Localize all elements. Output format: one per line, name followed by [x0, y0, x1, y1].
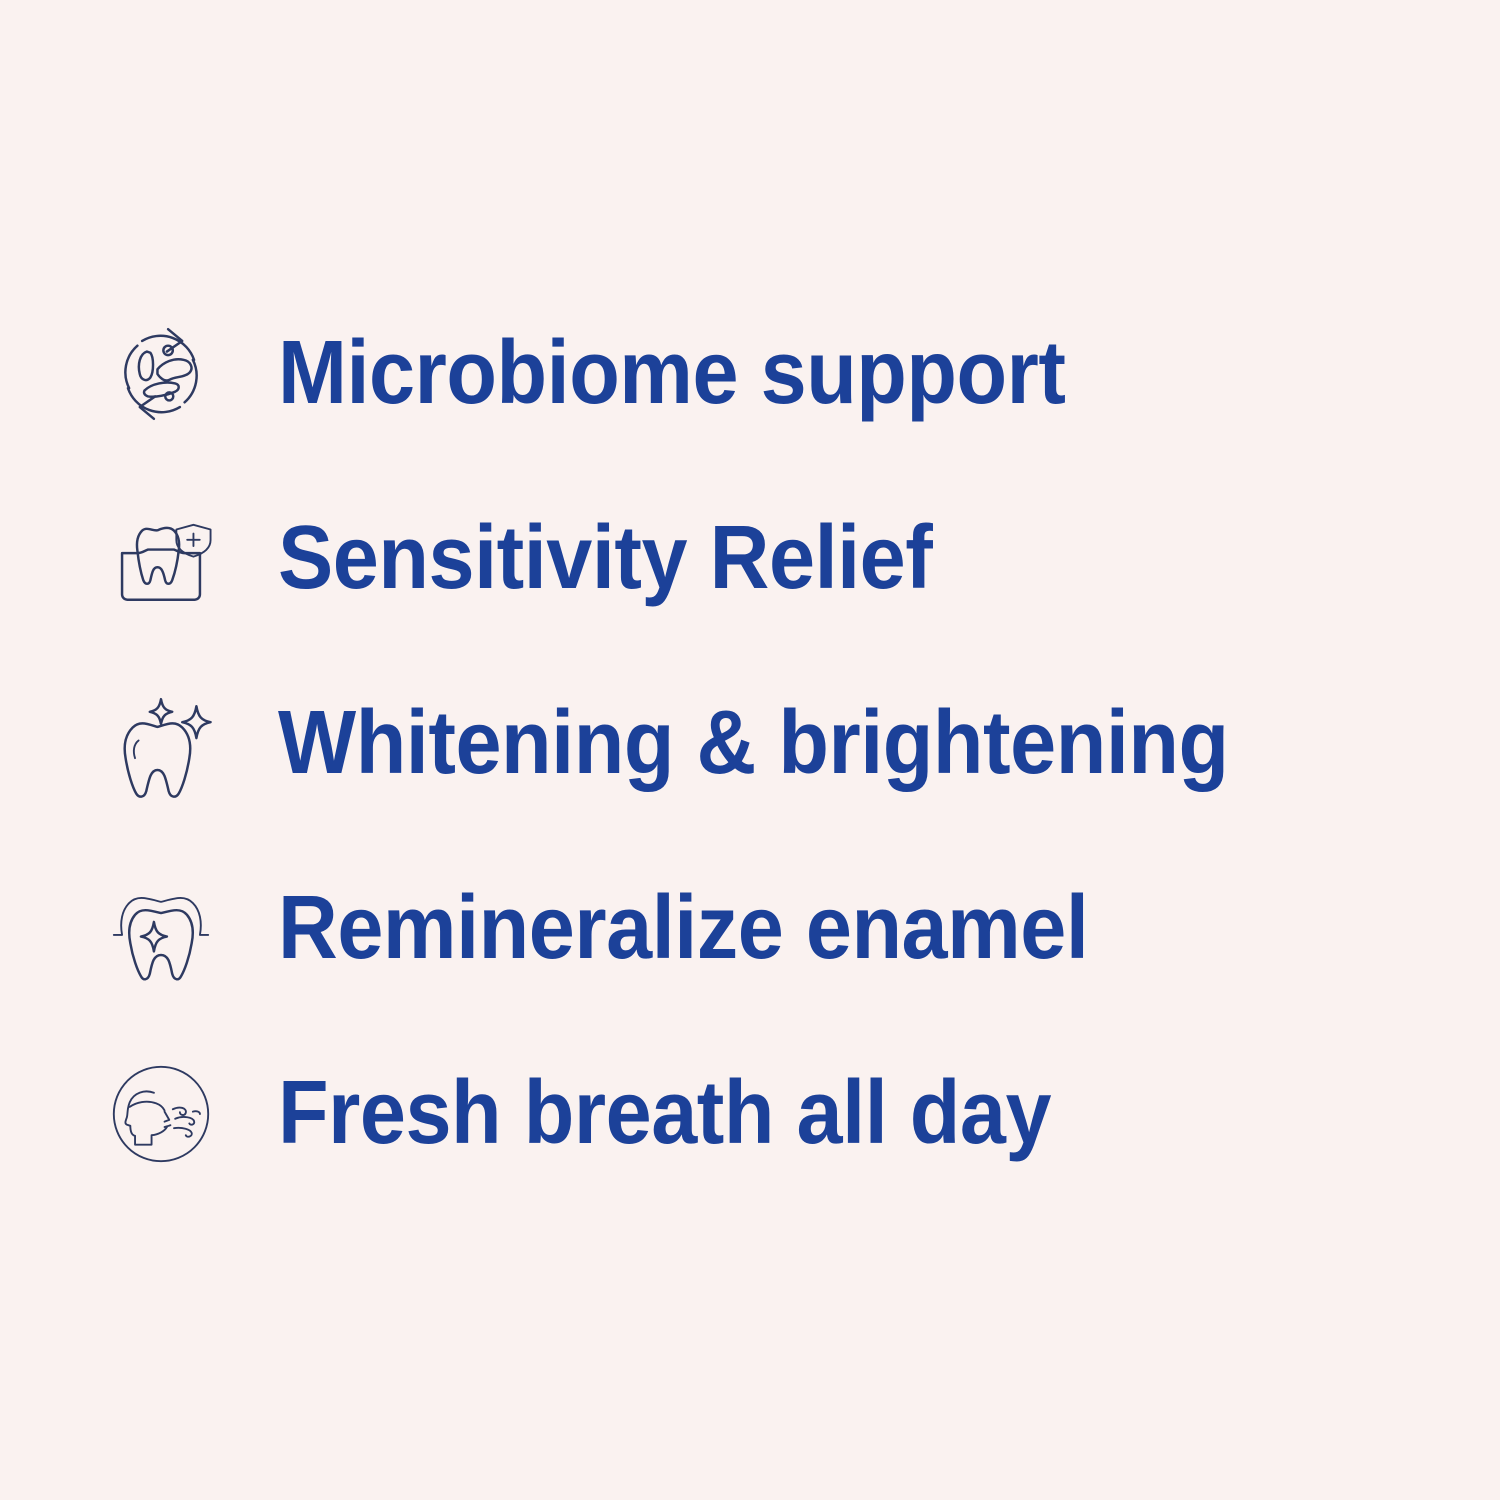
benefit-row: Microbiome support — [0, 281, 1500, 466]
benefit-label: Sensitivity Relief — [278, 513, 932, 605]
microbiome-cycle-icon — [96, 309, 226, 439]
benefits-list: Microbiome support Sensitivity Relief — [0, 0, 1500, 1500]
benefit-label: Microbiome support — [278, 328, 1066, 420]
benefit-label: Whitening & brightening — [278, 698, 1229, 790]
benefit-row: Sensitivity Relief — [0, 466, 1500, 651]
fresh-breath-head-icon — [96, 1049, 226, 1179]
benefit-row: Whitening & brightening — [0, 651, 1500, 836]
benefit-row: Remineralize enamel — [0, 836, 1500, 1021]
benefit-row: Fresh breath all day — [0, 1021, 1500, 1206]
tooth-gum-shield-icon — [96, 494, 226, 624]
benefit-label: Fresh breath all day — [278, 1068, 1051, 1160]
tooth-sparkle-icon — [96, 679, 226, 809]
benefit-label: Remineralize enamel — [278, 883, 1088, 975]
tooth-enamel-layer-icon — [96, 864, 226, 994]
